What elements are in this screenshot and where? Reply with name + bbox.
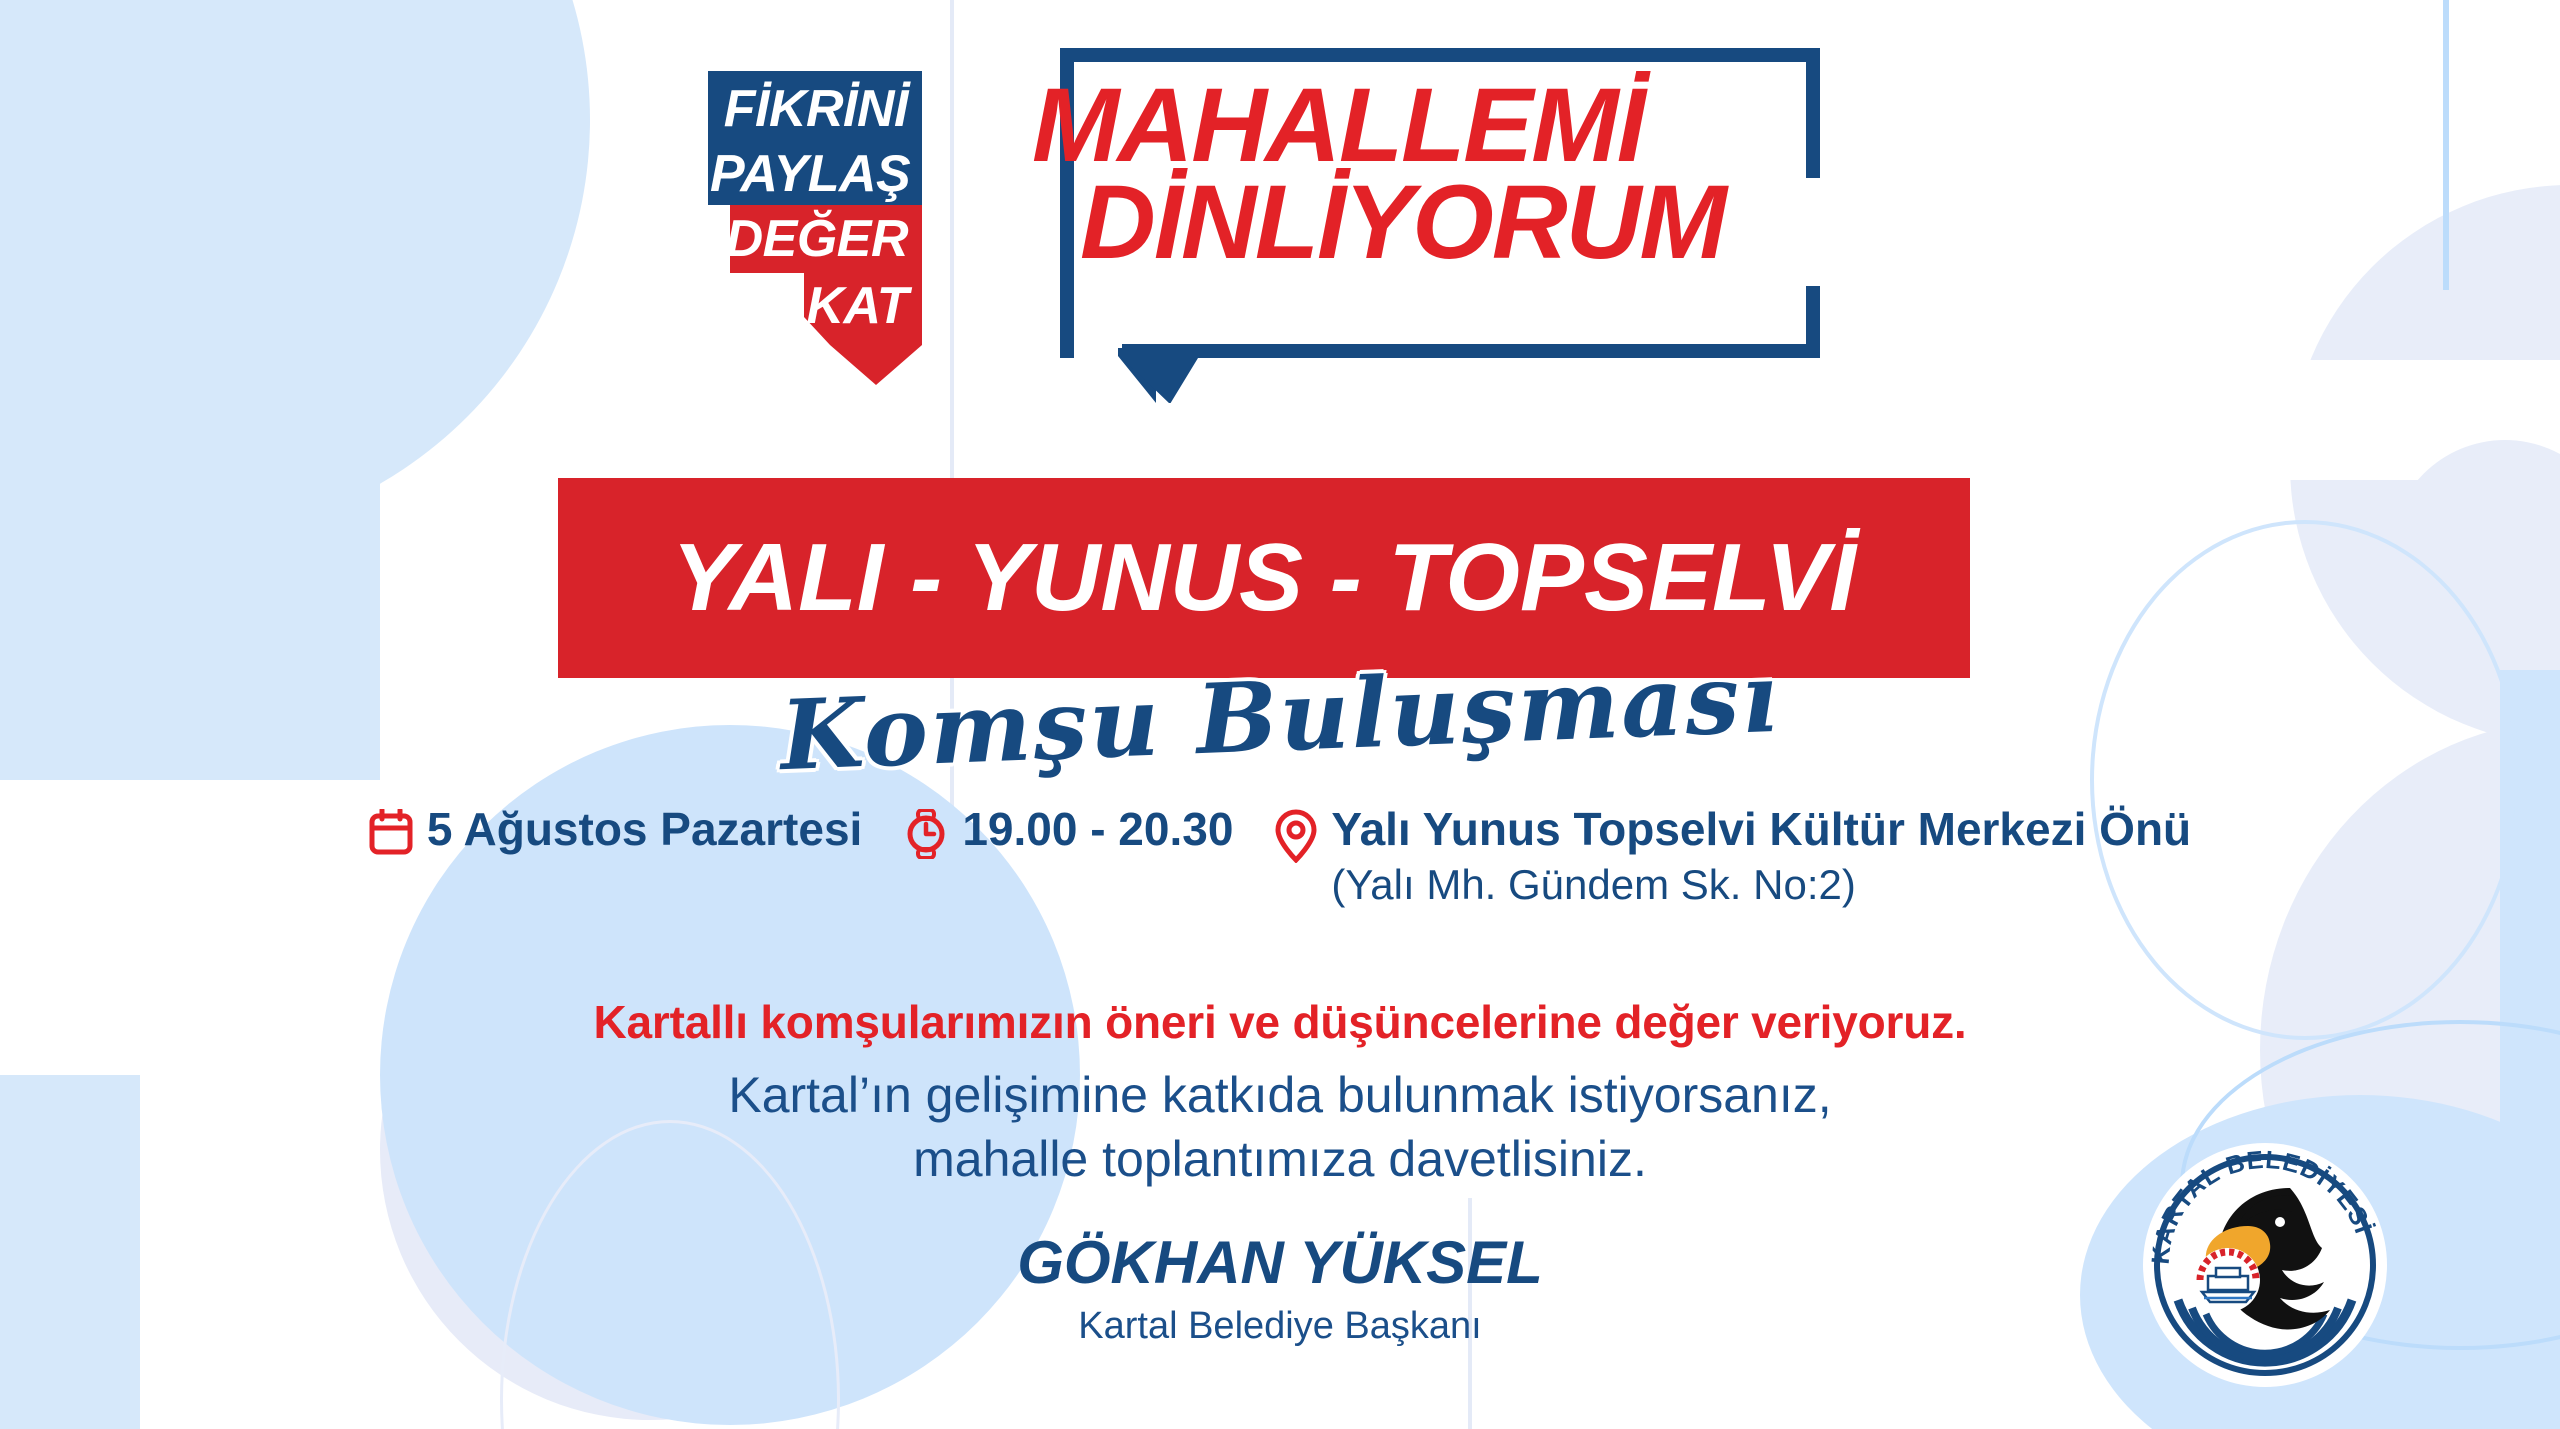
logo-shape: KARTAL BELEDİYESİ (2140, 1140, 2390, 1390)
copy-headline: Kartallı komşularımızın öneri ve düşünce… (0, 995, 2560, 1049)
campaign-ribbon: FİKRİNİ PAYLAŞ DEĞER KAT (700, 55, 930, 385)
copy-body-line-1: Kartal’ın gelişimine katkıda bulunmak is… (0, 1063, 2560, 1127)
ribbon-line-3: DEĞER (710, 213, 908, 265)
brand-title-line-2: DİNLİYORUM (1020, 175, 1880, 272)
ribbon-text-block: FİKRİNİ PAYLAŞ DEĞER KAT (700, 55, 930, 385)
event-location-text: Yalı Yunus Topselvi Kültür Merkezi Önü (1331, 803, 2191, 855)
brand-title: MAHALLEMİ DİNLİYORUM (1020, 78, 1880, 271)
ribbon-line-2: PAYLAŞ (710, 148, 908, 200)
event-date-text: 5 Ağustos Pazartesi (427, 805, 862, 855)
brand-title-line-1: MAHALLEMİ (1020, 78, 1880, 175)
calendar-icon (369, 809, 413, 860)
map-pin-icon (1275, 809, 1317, 868)
event-meta-row: 5 Ağustos Pazartesi 19.00 - 20.30 (0, 805, 2560, 909)
ribbon-line-4: KAT (710, 280, 908, 332)
kartal-belediyesi-logo: KARTAL BELEDİYESİ (2140, 1140, 2390, 1390)
event-date: 5 Ağustos Pazartesi (369, 805, 862, 860)
brand-lockup: FİKRİNİ PAYLAŞ DEĞER KAT MAHA (0, 0, 2560, 440)
neighborhood-banner-text: YALI - YUNUS - TOPSELVİ (672, 523, 1856, 633)
bg-shape-ellipse-outline-right (2090, 520, 2520, 1040)
poster-canvas: FİKRİNİ PAYLAŞ DEĞER KAT MAHA (0, 0, 2560, 1429)
event-time-text: 19.00 - 20.30 (962, 805, 1233, 855)
event-time: 19.00 - 20.30 (904, 805, 1233, 864)
watch-icon (904, 809, 948, 864)
event-location: Yalı Yunus Topselvi Kültür Merkezi Önü (… (1275, 805, 2191, 909)
event-location-detail: (Yalı Mh. Gündem Sk. No:2) (1331, 861, 2191, 909)
ribbon-line-1: FİKRİNİ (710, 83, 908, 135)
event-location-block: Yalı Yunus Topselvi Kültür Merkezi Önü (… (1331, 805, 2191, 909)
